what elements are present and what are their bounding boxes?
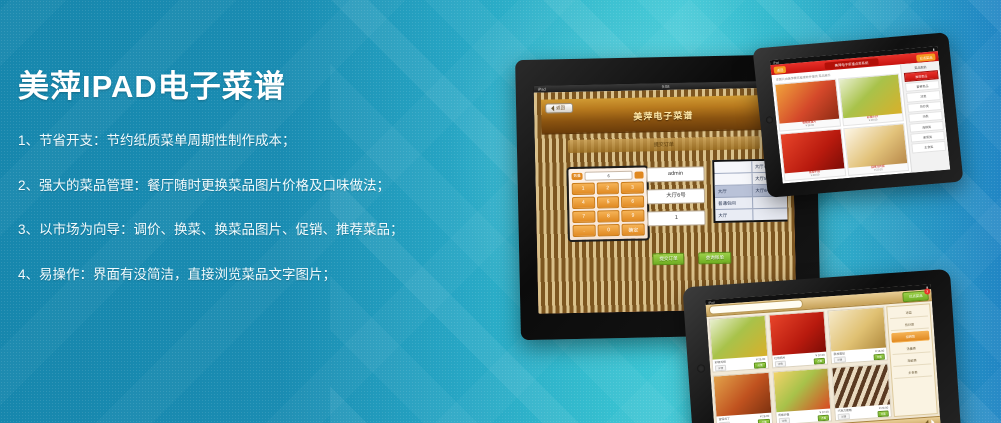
keypad-display-row: 数量 6	[571, 171, 643, 182]
dish-cell[interactable]: 香辣烤鱼片 ￥38.00	[774, 78, 840, 131]
detail-button[interactable]: 详情	[774, 361, 786, 368]
dish-price: ￥32.00	[815, 353, 825, 358]
keypad-key[interactable]: 5	[597, 196, 620, 208]
dish-photo	[710, 316, 767, 360]
dish-photo	[844, 124, 907, 168]
table-area: 普通包间	[715, 197, 753, 209]
action-buttons: 提交订单 查询账单	[652, 252, 731, 266]
backspace-icon[interactable]	[634, 172, 643, 179]
keypad-key[interactable]: 9	[622, 210, 645, 222]
app-body: 彩椒鸡柳 ￥26.00 详情 点菜 红烧肉片	[707, 301, 940, 423]
sidebar-item[interactable]: 海鲜类	[893, 354, 932, 367]
dish-photo	[775, 79, 838, 123]
home-button-icon[interactable]	[766, 116, 774, 124]
submit-order-button[interactable]: 提交订单	[652, 253, 685, 266]
dish-grid: 彩椒鸡柳 ￥26.00 详情 点菜 红烧肉片	[709, 307, 892, 423]
table-name	[753, 208, 789, 220]
subtitle-bar: 提交订单	[568, 136, 760, 153]
form-fields: admin 大厅6号 1	[646, 166, 705, 233]
dish-price: ￥28.00	[759, 414, 769, 419]
keypad-key[interactable]: 2	[596, 182, 619, 194]
dish-card[interactable]: 青椒炒蛋 ￥22.00 详情 点菜	[772, 368, 832, 423]
dish-photo	[829, 308, 886, 352]
next-page-icon[interactable]	[931, 419, 937, 423]
order-dish-button[interactable]: 点菜	[818, 415, 830, 422]
status-time: 9:08	[662, 84, 670, 89]
dish-grid: 香辣烤鱼片 ￥38.00 彩椒小炒 ￥28.00	[774, 73, 909, 181]
table-field[interactable]: 大厅6号	[647, 188, 705, 204]
dish-cell[interactable]: 彩椒小炒 ￥28.00	[838, 73, 904, 126]
keypad-grid: 1 2 3 4 5 6 7 8 9 . 0 确定	[572, 182, 645, 237]
keypad-key[interactable]: 8	[597, 210, 620, 222]
dish-browser-app-red: iPad ▮ 返回 美萍电子菜谱点菜系统 已点菜品 本图片由美萍餐饮管理软件提供…	[770, 46, 950, 183]
dish-browser-app-tan: iPad ▮ 已点菜品 3 彩椒鸡柳	[705, 284, 940, 423]
order-dish-button[interactable]: 点菜	[814, 358, 826, 365]
tablet-bottom-right-device: iPad ▮ 已点菜品 3 彩椒鸡柳	[682, 269, 961, 423]
dish-price: ￥22.00	[819, 410, 829, 415]
detail-button[interactable]: 详情	[834, 356, 846, 363]
category-sidebar: 凉菜 热炒类 招牌菜 汤羹类 海鲜类 主食类	[886, 303, 938, 417]
tablet-top-right-device: iPad ▮ 返回 美萍电子菜谱点菜系统 已点菜品 本图片由美萍餐饮管理软件提供…	[752, 32, 963, 198]
dish-price: ￥26.00	[755, 357, 765, 362]
keypad-key[interactable]: 7	[572, 211, 595, 223]
order-dish-button[interactable]: 点菜	[754, 362, 766, 369]
dish-price: ￥18.00	[874, 349, 884, 354]
feature-bullet-1: 1、节省开支：节约纸质菜单周期性制作成本；	[18, 130, 438, 152]
dish-card[interactable]: 彩椒鸡柳 ￥26.00 详情 点菜	[709, 315, 769, 373]
keypad-confirm-key[interactable]: 确定	[622, 223, 645, 235]
table-name	[753, 196, 790, 208]
keypad-key[interactable]: 4	[572, 197, 595, 209]
table-area: 大厅	[715, 209, 753, 221]
keypad-key[interactable]: 0	[597, 224, 620, 236]
dish-photo	[769, 312, 826, 356]
pagination-arrows	[922, 419, 937, 423]
sidebar-item[interactable]: 主食类	[894, 366, 933, 379]
table-area: 大厅	[715, 185, 753, 197]
dish-card[interactable]: 酥皮蛋挞 ￥18.00 详情 点菜	[828, 307, 888, 365]
sidebar-item[interactable]: 汤羹类	[892, 342, 931, 355]
sidebar-item[interactable]: 凉菜	[889, 307, 928, 320]
order-count-badge: 3	[924, 288, 930, 294]
dish-cell[interactable]: 黑椒牛柳 ￥48.00	[779, 128, 845, 181]
keypad-display: 6	[585, 171, 633, 181]
dish-card[interactable]: 红烧肉片 ￥32.00 详情 点菜	[768, 311, 828, 369]
numeric-keypad[interactable]: 数量 6 1 2 3 4 5 6 7	[566, 165, 650, 242]
dish-card[interactable]: 宫保鸡丁 ￥28.00 详情 点菜	[713, 372, 773, 423]
dish-cell[interactable]: 招牌凉拌面 ￥22.00	[843, 123, 909, 176]
table-area	[714, 161, 752, 173]
table-area	[715, 173, 753, 185]
dish-grid-area: 本图片由美萍餐饮管理软件提供 菜品展示 香辣烤鱼片 ￥38.00	[771, 64, 911, 183]
keypad-key[interactable]: 6	[621, 196, 644, 208]
keypad-key[interactable]: 3	[621, 182, 644, 194]
detail-button[interactable]: 详情	[778, 417, 790, 423]
dish-card[interactable]: 巧克力蛋糕 ￥20.00 详情 点菜	[832, 363, 892, 421]
dish-price: ￥20.00	[878, 405, 888, 410]
ordered-dishes-button[interactable]: 已点菜品	[916, 53, 935, 62]
feature-bullet-2: 2、强大的菜品管理：餐厅随时更换菜品图片价格及口味做法；	[18, 175, 438, 197]
dish-photo	[781, 129, 844, 173]
dish-photo	[714, 373, 771, 417]
user-field[interactable]: admin	[646, 166, 704, 182]
home-button-icon[interactable]	[697, 364, 706, 373]
dish-name: 宫保鸡丁	[719, 417, 730, 422]
keypad-key[interactable]: .	[573, 225, 596, 237]
order-dish-button[interactable]: 点菜	[877, 410, 889, 417]
table-row[interactable]: 大厅	[715, 208, 789, 221]
query-bill-button[interactable]: 查询账单	[699, 252, 732, 265]
feature-bullet-3: 3、以市场为向导：调价、换菜、换菜品图片、促销、推荐菜品；	[18, 219, 438, 241]
order-dish-button[interactable]: 点菜	[758, 419, 770, 423]
dish-photo	[773, 369, 830, 413]
order-dish-button[interactable]: 点菜	[873, 354, 885, 361]
prev-page-icon[interactable]	[922, 419, 928, 423]
ordered-dishes-label: 已点菜品	[909, 294, 923, 299]
keypad-key[interactable]: 1	[572, 183, 595, 195]
status-carrier: iPad	[538, 87, 546, 92]
feature-bullet-4: 4、易操作：界面有没简洁，直接浏览菜品文字图片；	[18, 264, 438, 286]
back-button[interactable]: 返回	[773, 65, 786, 73]
menu-login-app: 返回 美萍电子菜谱 提交订单 数量 6	[534, 87, 797, 313]
app-content: 返回 美萍电子菜谱 提交订单 数量 6	[541, 95, 789, 307]
subtitle-text: 提交订单	[568, 139, 760, 150]
tablet-main-screen: iPad 9:08 ▮ 返回 美萍电子菜谱 提交订单	[534, 80, 797, 313]
app-body: 本图片由美萍餐饮管理软件提供 菜品展示 香辣烤鱼片 ￥38.00	[771, 61, 950, 183]
sidebar-item-selected[interactable]: 招牌菜	[891, 330, 930, 343]
ordered-dishes-button[interactable]: 已点菜品 3	[903, 290, 929, 302]
detail-button[interactable]: 详情	[715, 365, 727, 372]
dish-photo	[839, 74, 902, 118]
page-title: 美萍IPAD电子菜谱	[18, 70, 438, 104]
tablet-bottom-right-screen: iPad ▮ 已点菜品 3 彩椒鸡柳	[705, 284, 940, 423]
tablet-top-right-screen: iPad ▮ 返回 美萍电子菜谱点菜系统 已点菜品 本图片由美萍餐饮管理软件提供…	[770, 46, 950, 183]
count-field[interactable]: 1	[647, 210, 705, 226]
detail-button[interactable]: 详情	[838, 413, 850, 420]
sidebar-item[interactable]: 热炒类	[890, 318, 929, 331]
login-form-area: 数量 6 1 2 3 4 5 6 7	[542, 151, 788, 266]
app-header-bar: 返回 美萍电子菜谱	[541, 95, 786, 135]
app-title: 美萍电子菜谱	[541, 107, 785, 125]
promo-banner: 美萍IPAD电子菜谱 1、节省开支：节约纸质菜单周期性制作成本； 2、强大的菜品…	[0, 0, 1001, 423]
dish-photo	[833, 364, 890, 408]
keypad-tag: 数量	[571, 173, 582, 180]
promo-copy: 美萍IPAD电子菜谱 1、节省开支：节约纸质菜单周期性制作成本； 2、强大的菜品…	[18, 70, 438, 308]
sidebar-item[interactable]: 主食类	[911, 141, 946, 153]
